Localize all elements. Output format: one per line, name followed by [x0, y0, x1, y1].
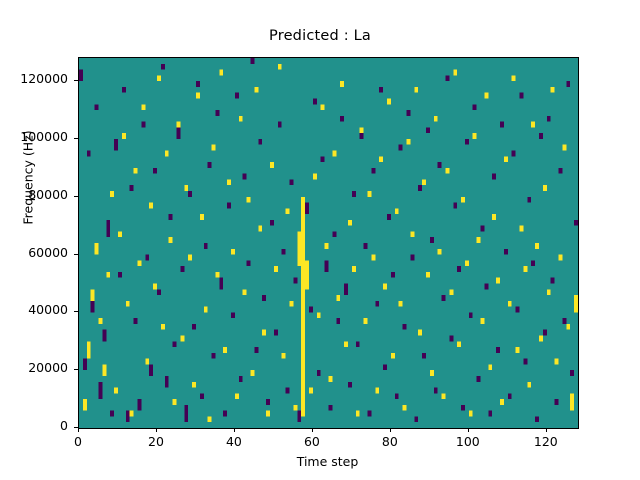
- x-tick-mark: [78, 428, 79, 432]
- x-tick-mark: [234, 428, 235, 432]
- y-tick-mark: [74, 254, 78, 255]
- y-tick-label: 0: [0, 418, 68, 433]
- x-tick-mark: [390, 428, 391, 432]
- y-tick-label: 120000: [0, 71, 68, 86]
- y-tick-label: 40000: [0, 302, 68, 317]
- y-tick-mark: [74, 196, 78, 197]
- heatmap-canvas: [79, 58, 578, 428]
- y-tick-mark: [74, 369, 78, 370]
- x-tick-label: 60: [282, 434, 342, 449]
- x-tick-label: 0: [48, 434, 108, 449]
- x-axis-label: Time step: [78, 454, 577, 469]
- matplotlib-figure: Predicted : La 020406080100120 020000400…: [0, 0, 640, 480]
- x-tick-mark: [468, 428, 469, 432]
- y-tick-label: 20000: [0, 360, 68, 375]
- y-tick-mark: [74, 138, 78, 139]
- y-tick-mark: [74, 80, 78, 81]
- y-axis-label: Frequency (Hz): [21, 98, 36, 258]
- x-tick-label: 100: [438, 434, 498, 449]
- x-tick-label: 40: [204, 434, 264, 449]
- x-tick-mark: [156, 428, 157, 432]
- x-tick-mark: [312, 428, 313, 432]
- page-title: Predicted : La: [0, 28, 640, 44]
- y-tick-mark: [74, 427, 78, 428]
- x-tick-label: 120: [516, 434, 576, 449]
- heatmap-image: [79, 58, 578, 428]
- x-tick-label: 80: [360, 434, 420, 449]
- x-tick-mark: [546, 428, 547, 432]
- x-tick-label: 20: [126, 434, 186, 449]
- heatmap-axes: [78, 57, 579, 429]
- y-tick-mark: [74, 311, 78, 312]
